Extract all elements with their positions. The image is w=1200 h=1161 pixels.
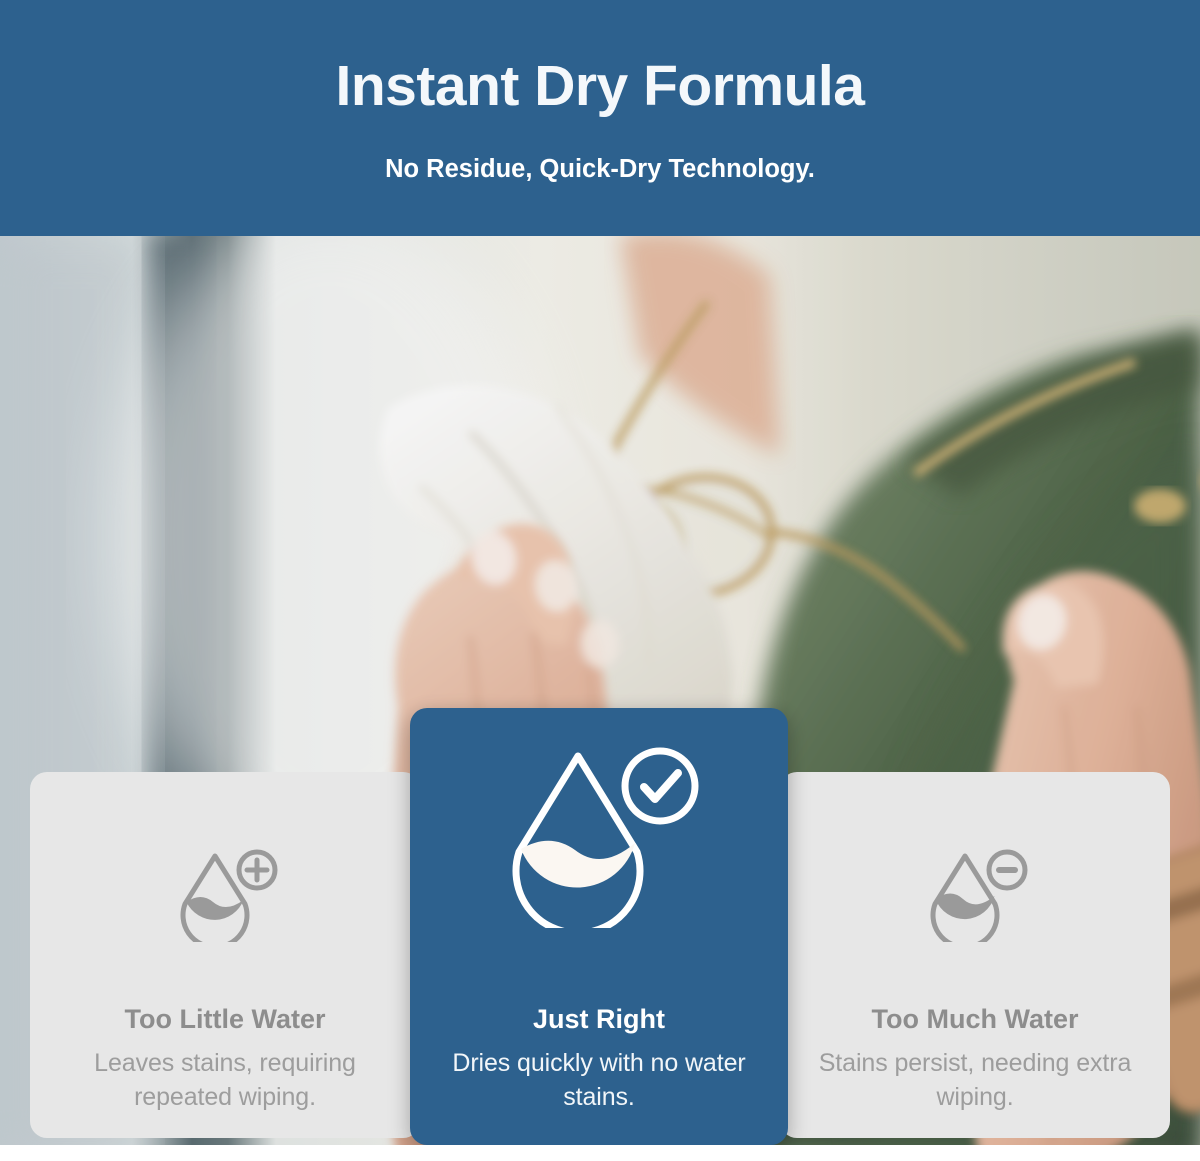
card-just-right[interactable]: Just Right Dries quickly with no water s…: [410, 708, 788, 1145]
comparison-cards: Too Little Water Leaves stains, requirin…: [0, 0, 1200, 1161]
card-description: Stains persist, needing extra wiping.: [810, 1046, 1140, 1114]
water-drop-check-icon: [492, 742, 706, 928]
card-description: Leaves stains, requiring repeated wiping…: [60, 1046, 390, 1114]
water-drop-plus-icon: [169, 846, 281, 942]
card-too-little-water[interactable]: Too Little Water Leaves stains, requirin…: [30, 772, 420, 1138]
water-drop-minus-icon: [919, 846, 1031, 942]
bottom-white-strip: [0, 1145, 1200, 1161]
card-too-much-water[interactable]: Too Much Water Stains persist, needing e…: [780, 772, 1170, 1138]
card-title: Too Much Water: [872, 1004, 1079, 1035]
card-title: Just Right: [533, 1004, 665, 1035]
card-title: Too Little Water: [125, 1004, 326, 1035]
card-description: Dries quickly with no water stains.: [434, 1046, 764, 1114]
